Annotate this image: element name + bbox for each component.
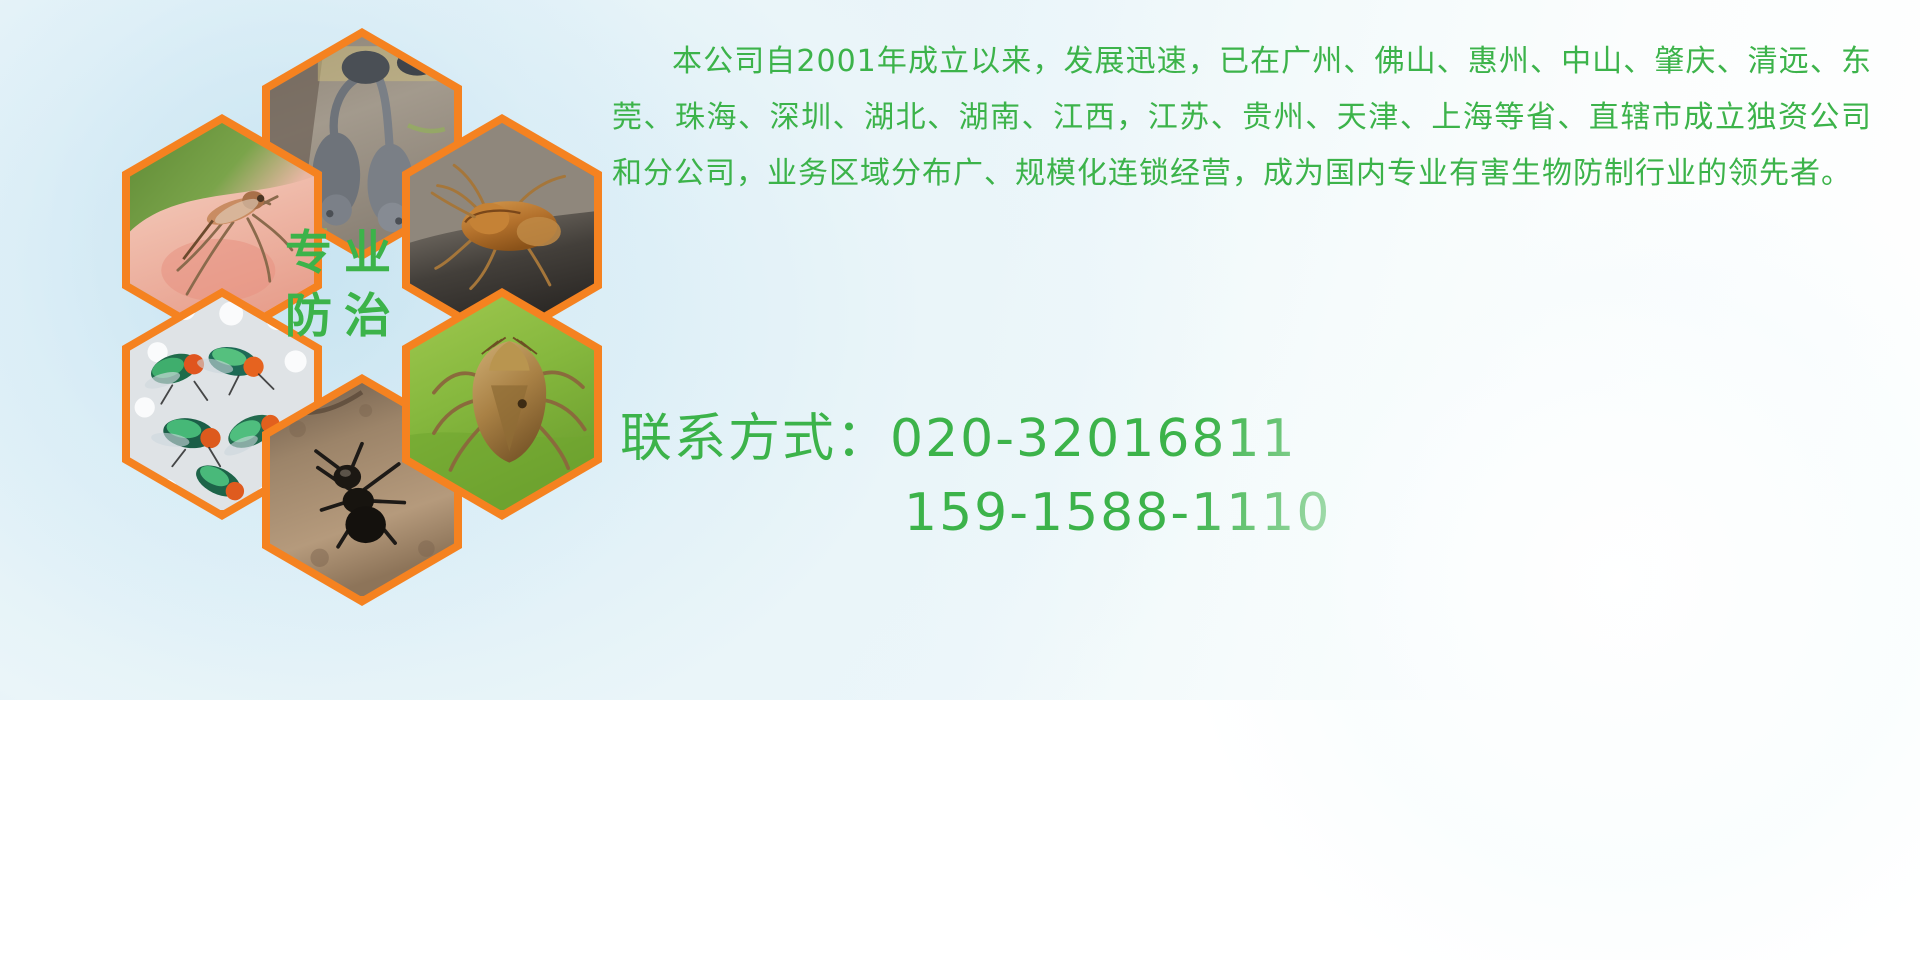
slogan-block: 专业 防治: [253, 195, 423, 375]
slogan-line-2: 防治: [273, 293, 403, 340]
stinkbug-photo: [410, 297, 594, 511]
contact-line-primary[interactable]: 联系方式：020-32016811: [620, 402, 1820, 476]
contact-block: 联系方式：020-32016811 159-1588-1110: [620, 402, 1820, 550]
slogan-line-1: 专业: [273, 230, 403, 277]
honeycomb-gallery: 专业 防治: [0, 0, 600, 700]
company-description-text: 本公司自2001年成立以来，发展迅速，已在广州、佛山、惠州、中山、肇庆、清远、东…: [612, 34, 1872, 202]
promo-banner: 专业 防治 本公司自2001年成立以来，发展迅速，已在广州、佛山、惠州、中山、肇…: [0, 0, 1920, 700]
company-description: 本公司自2001年成立以来，发展迅速，已在广州、佛山、惠州、中山、肇庆、清远、东…: [612, 34, 1872, 202]
stinkbug-photo-icon: [410, 297, 594, 510]
contact-line-secondary[interactable]: 159-1588-1110: [620, 476, 1820, 550]
